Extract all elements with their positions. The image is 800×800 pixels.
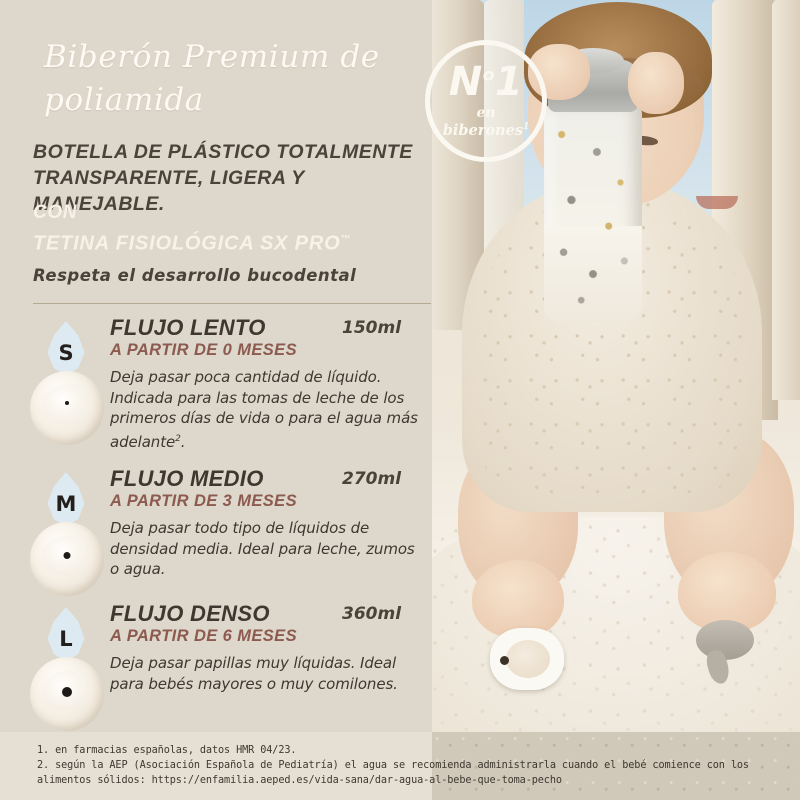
- flow-description-text: Deja pasar poca cantidad de líquido. Ind…: [110, 368, 418, 451]
- flow-footnote-ref: 2: [175, 434, 181, 444]
- flow-icon-column: S: [24, 321, 108, 441]
- teat-hole: [62, 687, 72, 697]
- left-content-panel: Biberón Premium de poliamida BOTELLA DE …: [0, 0, 432, 732]
- flow-volume: 150ml: [342, 318, 401, 338]
- pacifier-white: [490, 628, 564, 690]
- headline-line-1: BOTELLA DE PLÁSTICO TOTALMENTE: [33, 141, 413, 163]
- flow-description: Deja pasar todo tipo de líquidos de dens…: [110, 518, 428, 580]
- infographic-page: No1 en biberones1 Biberón Premium de pol…: [0, 0, 800, 800]
- flow-icon-column: L: [24, 607, 108, 727]
- headline-line-2: TRANSPARENTE, LIGERA Y MANEJABLE.: [33, 165, 428, 217]
- droplet-icon: L: [44, 607, 88, 663]
- badge-footnote-ref: 1: [523, 122, 529, 132]
- pacifier-grey: [690, 620, 760, 686]
- droplet-icon: M: [44, 472, 88, 528]
- droplet-icon: S: [44, 321, 88, 377]
- teat-photo: [30, 657, 104, 731]
- baby-foot-left: [472, 560, 564, 638]
- teat-photo: [30, 522, 104, 596]
- footnote-1: 1. en farmacias españolas, datos HMR 04/…: [37, 743, 793, 758]
- respeta-tagline: Respeta el desarrollo bucodental: [33, 266, 356, 285]
- flow-icon-column: M: [24, 472, 108, 592]
- badge-line-biberones: biberones1: [443, 122, 530, 139]
- number-one-badge: No1 en biberones1: [425, 40, 547, 162]
- badge-biberones-text: biberones: [443, 122, 523, 139]
- flow-description: Deja pasar poca cantidad de líquido. Ind…: [110, 367, 428, 452]
- droplet-size-letter: L: [59, 629, 72, 650]
- droplet-size-letter: S: [58, 343, 73, 364]
- badge-line-en: en: [476, 105, 495, 122]
- baby-hand-right: [628, 52, 684, 114]
- teat-photo: [30, 371, 104, 445]
- headline: BOTELLA DE PLÁSTICO TOTALMENTE TRANSPARE…: [33, 139, 428, 217]
- badge-number: No1: [449, 62, 524, 102]
- flow-volume: 360ml: [342, 604, 401, 624]
- badge-degree: o: [483, 66, 495, 86]
- bottle-floral-pattern: [544, 104, 642, 322]
- flow-age: A PARTIR DE 6 MESES: [110, 627, 297, 646]
- flow-volume: 270ml: [342, 469, 401, 489]
- pacifier-air-hole: [500, 656, 509, 665]
- baby-mouth: [696, 196, 738, 209]
- badge-digit: 1: [495, 59, 523, 105]
- flow-title: FLUJO DENSO: [110, 601, 270, 627]
- badge-prefix: N: [449, 59, 483, 105]
- section-divider: [33, 303, 431, 304]
- con-label: CON: [33, 200, 77, 226]
- pacifier-shield: [696, 620, 754, 660]
- flow-title: FLUJO MEDIO: [110, 466, 264, 492]
- pacifier-ring: [506, 640, 550, 678]
- droplet-size-letter: M: [56, 494, 77, 515]
- flow-age: A PARTIR DE 3 MESES: [110, 492, 297, 511]
- stone-column-icon: [772, 0, 800, 400]
- flow-title: FLUJO LENTO: [110, 315, 266, 341]
- teat-hole: [64, 552, 71, 559]
- bottle-body: [544, 104, 642, 322]
- footnote-2: 2. según la AEP (Asociación Española de …: [37, 758, 793, 788]
- page-title: Biberón Premium de poliamida: [44, 36, 404, 122]
- flow-description: Deja pasar papillas muy líquidas. Ideal …: [110, 653, 428, 694]
- flow-age: A PARTIR DE 0 MESES: [110, 341, 297, 360]
- tetina-label: TETINA FISIOLÓGICA SX PRO™: [33, 226, 351, 258]
- trademark-symbol: ™: [340, 234, 351, 245]
- tetina-text: TETINA FISIOLÓGICA SX PRO: [33, 233, 340, 255]
- teat-hole: [65, 401, 69, 405]
